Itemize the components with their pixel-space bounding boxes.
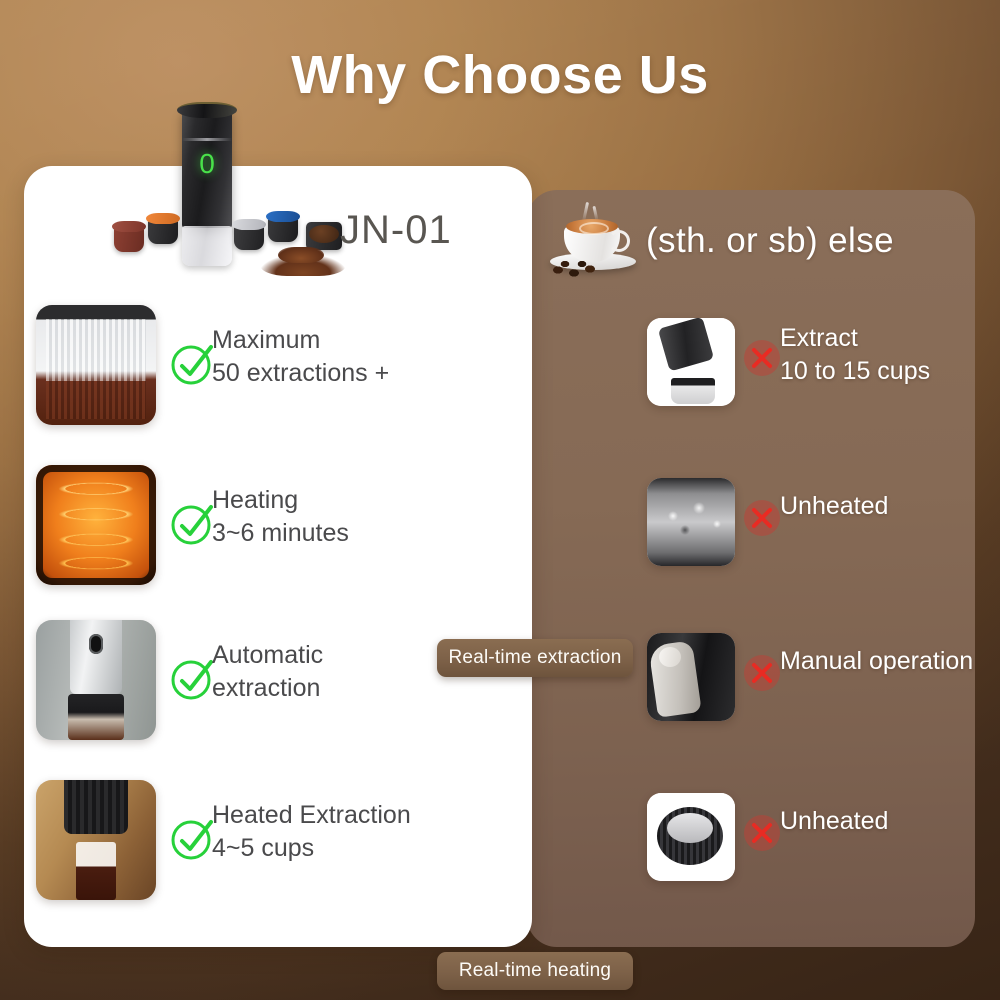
competitor-feature-text: Manual operation <box>780 645 973 678</box>
crema-shape <box>566 219 618 234</box>
cross-circle-icon <box>742 338 782 378</box>
competitor-thumbnail <box>647 318 735 406</box>
product-thumbnail <box>36 305 156 425</box>
coffee-cup-icon <box>548 204 640 278</box>
machine-display-digit: 0 <box>182 150 232 178</box>
coffee-beans-icon <box>548 260 606 278</box>
product-hero-image: 0 <box>110 104 530 284</box>
capsule-red-icon <box>114 226 144 252</box>
product-brand-label: JN-01 <box>340 208 452 253</box>
comparison-row: Heating 3~6 minutes Real-time heating Un… <box>0 460 1000 590</box>
infographic-canvas: Why Choose Us 0 JN-01 (sth. or sb) else <box>0 0 1000 1000</box>
check-circle-icon <box>170 502 216 548</box>
cross-circle-icon <box>742 498 782 538</box>
competitor-feature-text: Extract 10 to 15 cups <box>780 322 930 388</box>
capsule-silver-icon <box>234 224 264 250</box>
product-feature-text: Maximum 50 extractions + <box>212 324 389 390</box>
product-thumbnail <box>36 620 156 740</box>
competitor-thumbnail <box>647 633 735 721</box>
comparison-row: Automatic extraction Extraction Method M… <box>0 615 1000 745</box>
competitor-brand-label: (sth. or sb) else <box>646 221 894 261</box>
competitor-feature-text: Unheated <box>780 805 888 838</box>
cross-circle-icon <box>742 813 782 853</box>
check-circle-icon <box>170 817 216 863</box>
competitor-thumbnail <box>647 793 735 881</box>
page-title: Why Choose Us <box>0 44 1000 106</box>
product-thumbnail <box>36 780 156 900</box>
competitor-header: (sth. or sb) else <box>548 196 968 286</box>
check-circle-icon <box>170 657 216 703</box>
check-circle-icon <box>170 342 216 388</box>
feature-label-badge: Real-time heating <box>437 952 633 990</box>
capsule-open-icon <box>306 222 342 250</box>
comparison-row: Maximum 50 extractions + Real-time extra… <box>0 300 1000 430</box>
machine-cup-base <box>182 226 232 266</box>
product-feature-text: Automatic extraction <box>212 639 323 705</box>
competitor-thumbnail <box>647 478 735 566</box>
competitor-feature-text: Unheated <box>780 490 888 523</box>
capsule-blue-icon <box>268 216 298 242</box>
cross-circle-icon <box>742 653 782 693</box>
coffee-grounds-icon <box>260 254 346 276</box>
product-feature-text: Heated Extraction 4~5 cups <box>212 799 411 865</box>
comparison-row: Heated Extraction 4~5 cups Extraction Me… <box>0 775 1000 905</box>
product-thumbnail <box>36 465 156 585</box>
mug-handle-shape <box>608 230 630 252</box>
capsule-orange-icon <box>148 218 178 244</box>
product-feature-text: Heating 3~6 minutes <box>212 484 349 550</box>
